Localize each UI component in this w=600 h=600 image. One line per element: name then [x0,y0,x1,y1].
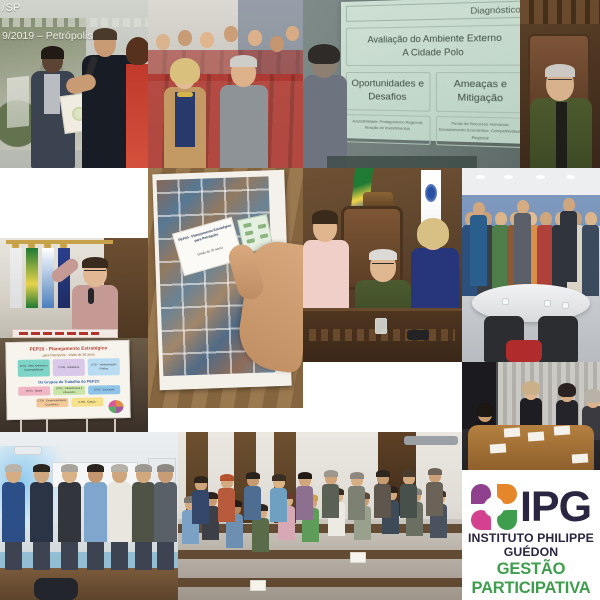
photo-elderly-man-green-jacket [520,0,600,168]
bag-on-floor [34,578,78,600]
person-standing-right [126,40,148,168]
slide-main-box: Avaliação do Ambiente Externo A Cidade P… [346,24,520,66]
podium-banner [12,329,118,338]
air-vent [404,436,458,445]
person-speaking [72,260,118,338]
photo-council-chamber-trio [303,168,462,362]
water-glass [375,318,387,334]
photo-seven-men-classroom [0,432,178,600]
cup [502,298,509,305]
ipg-pinwheel-icon [471,484,517,530]
flag-white [10,248,22,308]
poster-card: GT06 - Cidadania [53,359,85,377]
photo-diagnostic-slide: Diagnóstico Avaliação do Ambiente Extern… [303,0,520,168]
handout-paper [250,580,266,591]
logo-institute-name: INSTITUTO PHILIPPE GUÉDON [462,531,600,559]
handout-paper [350,552,366,563]
cup [562,302,569,309]
document [572,453,589,463]
document [554,425,571,435]
person-hair [545,64,575,77]
poster-title: PEP20 - Planejamento Estratégico [14,345,122,352]
photo-group-oval-table [462,168,600,362]
poster-subtitle: para Petrópolis - Visão de 20 anos [15,352,123,358]
document [490,443,507,453]
flag-brazil [26,248,38,308]
slide-right-box: Ameaças e Mitigação [435,72,520,113]
poster-card: GT01 - Meio Ambiente e Sustentabilidade [18,359,50,377]
document [528,431,545,441]
slide-right-detail: Perda de Recursos Humanos; Esvaziamento … [435,116,520,148]
logo-tagline: GESTÃO PARTICIPATIVA [462,560,600,598]
slide-title-line-blur [2,18,148,27]
floor [0,568,178,600]
ipg-logo-block: IPG INSTITUTO PHILIPPE GUÉDON GESTÃO PAR… [462,470,600,600]
presiding-desk [303,308,462,362]
slide-header-box: Diagnóstico [346,0,520,21]
microphone-icon [88,288,94,304]
photo-pep20-poster: PEP20 - Planejamento Estratégico para Pe… [0,338,148,432]
poster-card: GT04 - Saúde [18,386,50,396]
eyeglasses-icon [372,263,394,268]
photo-speaker-with-flags [0,238,148,338]
ipg-logo-small-icon [108,400,123,413]
poster-cards-row1: GT01 - Meio Ambiente e Sustentabilidade … [14,358,124,377]
photo-chamber-audience [178,432,462,600]
projected-slide: Diagnóstico Avaliação do Ambiente Extern… [341,0,520,144]
logo-acronym: IPG [520,488,591,527]
slide-header-text: Diagnóstico [470,4,520,16]
cup [544,300,551,307]
poster-card: GT03 - Educação [88,385,120,395]
poster-card: GT02 - Infraestrutura e Urbanismo [53,386,85,396]
document [504,427,521,437]
eyeglasses-icon [548,79,572,85]
table-edge [327,156,477,168]
red-chair [506,340,542,362]
poster-card: GT07 - Administração Pública [88,358,120,376]
photo-collage: /SP 9/2019 – Petrópolis/RJ [0,0,600,600]
photo-meeting-wooden-table [462,362,600,470]
microphone-stand-icon [407,330,429,340]
office-chair [538,316,578,362]
eyeglasses-icon [84,270,106,275]
green-jacket [530,98,592,168]
slide-title-line1: /SP [2,2,21,14]
slide-main-line1: Avaliação do Ambiente Externo [349,31,520,47]
poster-card: GT08 - Cultura [71,397,103,407]
person-blonde-seated [164,62,206,168]
carved-wood-trim [520,0,600,24]
slide-main-line2: A Cidade Polo [349,45,520,60]
slide-left-box: Oportunidades e Desafios [346,72,430,111]
poster-card: GT05 - Desenvolvimento Econômico [36,398,68,408]
ceiling [462,168,600,195]
projector-icon [14,446,42,455]
photo-printed-collage-held: PEP20 - Planejamento Estratégico para Pe… [148,168,303,408]
person-grey-shirt-seated [220,58,268,168]
person-watching-slide [303,48,347,168]
easel-legs [16,419,120,432]
poster-groups-heading: Os Grupos de Trabalho do PEP20: [15,379,123,385]
photo-award-ceremony: /SP 9/2019 – Petrópolis/RJ [0,0,148,168]
photo-auditorium-audience [148,0,303,168]
slide-left-detail: Acessibilidade; Protagonismo Regional; A… [346,114,430,145]
poster-board: PEP20 - Planejamento Estratégico para Pe… [5,340,130,420]
